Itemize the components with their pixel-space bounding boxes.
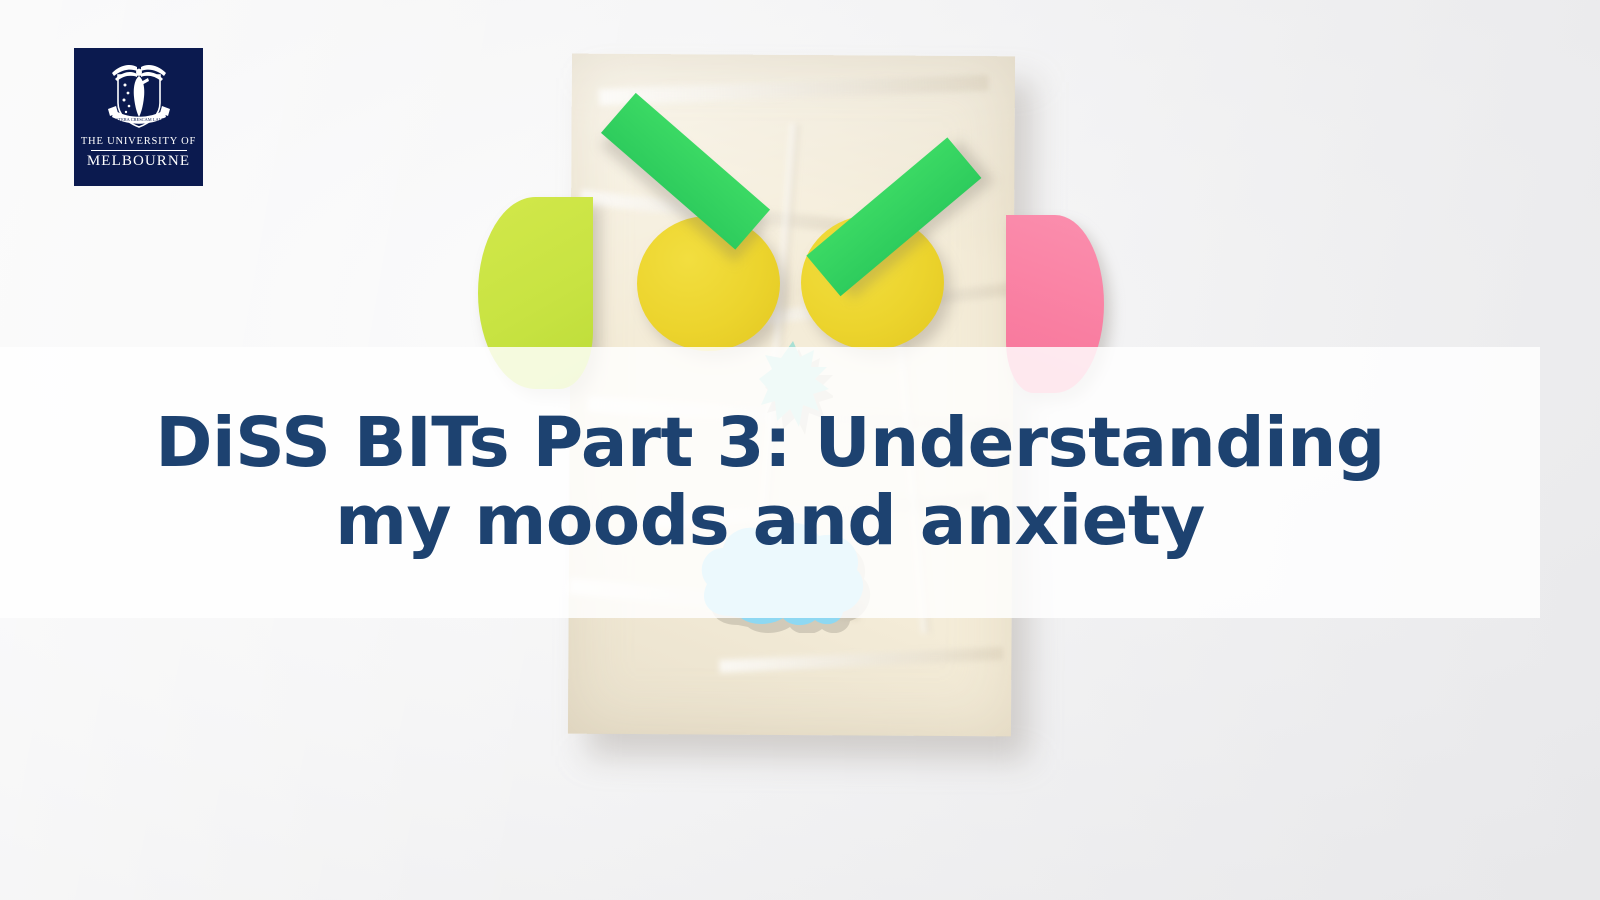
crest-motto: POSTERA CRESCAM LAUDE	[110, 117, 168, 122]
logo-divider	[91, 150, 187, 151]
paper-crease	[719, 647, 1003, 673]
slide-canvas: DiSS BITs Part 3: Understanding my moods…	[0, 0, 1600, 900]
page-title: DiSS BITs Part 3: Understanding my moods…	[125, 405, 1415, 561]
title-container: DiSS BITs Part 3: Understanding my moods…	[0, 347, 1540, 618]
logo-melbourne-line: MELBOURNE	[87, 153, 190, 170]
paper-crease	[598, 75, 988, 106]
logo-university-line: THE UNIVERSITY OF	[81, 136, 196, 147]
university-logo: POSTERA CRESCAM LAUDE THE UNIVERSITY OF …	[74, 48, 203, 186]
university-crest-icon: POSTERA CRESCAM LAUDE	[104, 57, 174, 133]
